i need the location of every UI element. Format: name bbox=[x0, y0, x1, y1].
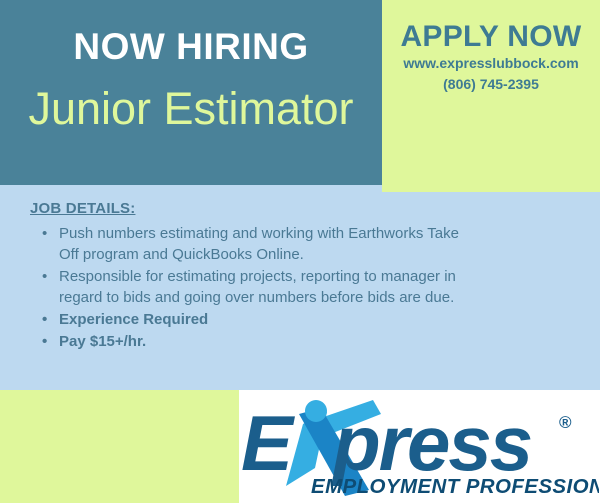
bullet-icon: • bbox=[42, 331, 47, 352]
job-posting-flyer: NOW HIRING Junior Estimator APPLY NOW ww… bbox=[0, 0, 600, 503]
list-item-text: Responsible for estimating projects, rep… bbox=[59, 268, 456, 306]
list-item-text: Experience Required bbox=[59, 311, 208, 328]
footer-green-block bbox=[0, 390, 239, 503]
logo-wordmark-e: E bbox=[241, 399, 295, 487]
logo-tagline: EMPLOYMENT PROFESSIONALS bbox=[311, 475, 599, 498]
hero-bottom-spacer bbox=[0, 185, 382, 192]
hero-panel: NOW HIRING Junior Estimator bbox=[0, 0, 382, 185]
list-item: • Pay $15+/hr. bbox=[42, 331, 462, 352]
apply-panel: APPLY NOW www.expresslubbock.com (806) 7… bbox=[382, 0, 600, 192]
list-item: • Responsible for estimating projects, r… bbox=[42, 266, 462, 308]
list-item-text: Pay $15+/hr. bbox=[59, 333, 146, 350]
list-item-text: Push numbers estimating and working with… bbox=[59, 225, 459, 263]
company-logo: E press ® EMPLOYMENT PROFESSIONALS bbox=[239, 390, 600, 503]
registered-trademark-icon: ® bbox=[559, 413, 572, 432]
footer-band: E press ® EMPLOYMENT PROFESSIONALS bbox=[0, 390, 600, 503]
website-link[interactable]: www.expresslubbock.com bbox=[382, 55, 600, 72]
bullet-icon: • bbox=[42, 223, 47, 244]
job-details-panel: JOB DETAILS: • Push numbers estimating a… bbox=[0, 192, 600, 390]
logo-wordmark-press: press bbox=[331, 399, 531, 487]
bullet-icon: • bbox=[42, 266, 47, 287]
job-title: Junior Estimator bbox=[4, 85, 378, 132]
job-details-list: • Push numbers estimating and working wi… bbox=[42, 223, 462, 353]
list-item: • Push numbers estimating and working wi… bbox=[42, 223, 462, 265]
list-item: • Experience Required bbox=[42, 309, 462, 330]
apply-now-heading: APPLY NOW bbox=[382, 22, 600, 52]
job-details-heading: JOB DETAILS: bbox=[30, 200, 135, 217]
header-band: NOW HIRING Junior Estimator APPLY NOW ww… bbox=[0, 0, 600, 192]
bullet-icon: • bbox=[42, 309, 47, 330]
page-title: NOW HIRING bbox=[0, 28, 382, 65]
phone-number[interactable]: (806) 745-2395 bbox=[382, 76, 600, 93]
express-logo-graphic: E press ® EMPLOYMENT PROFESSIONALS bbox=[241, 394, 599, 502]
